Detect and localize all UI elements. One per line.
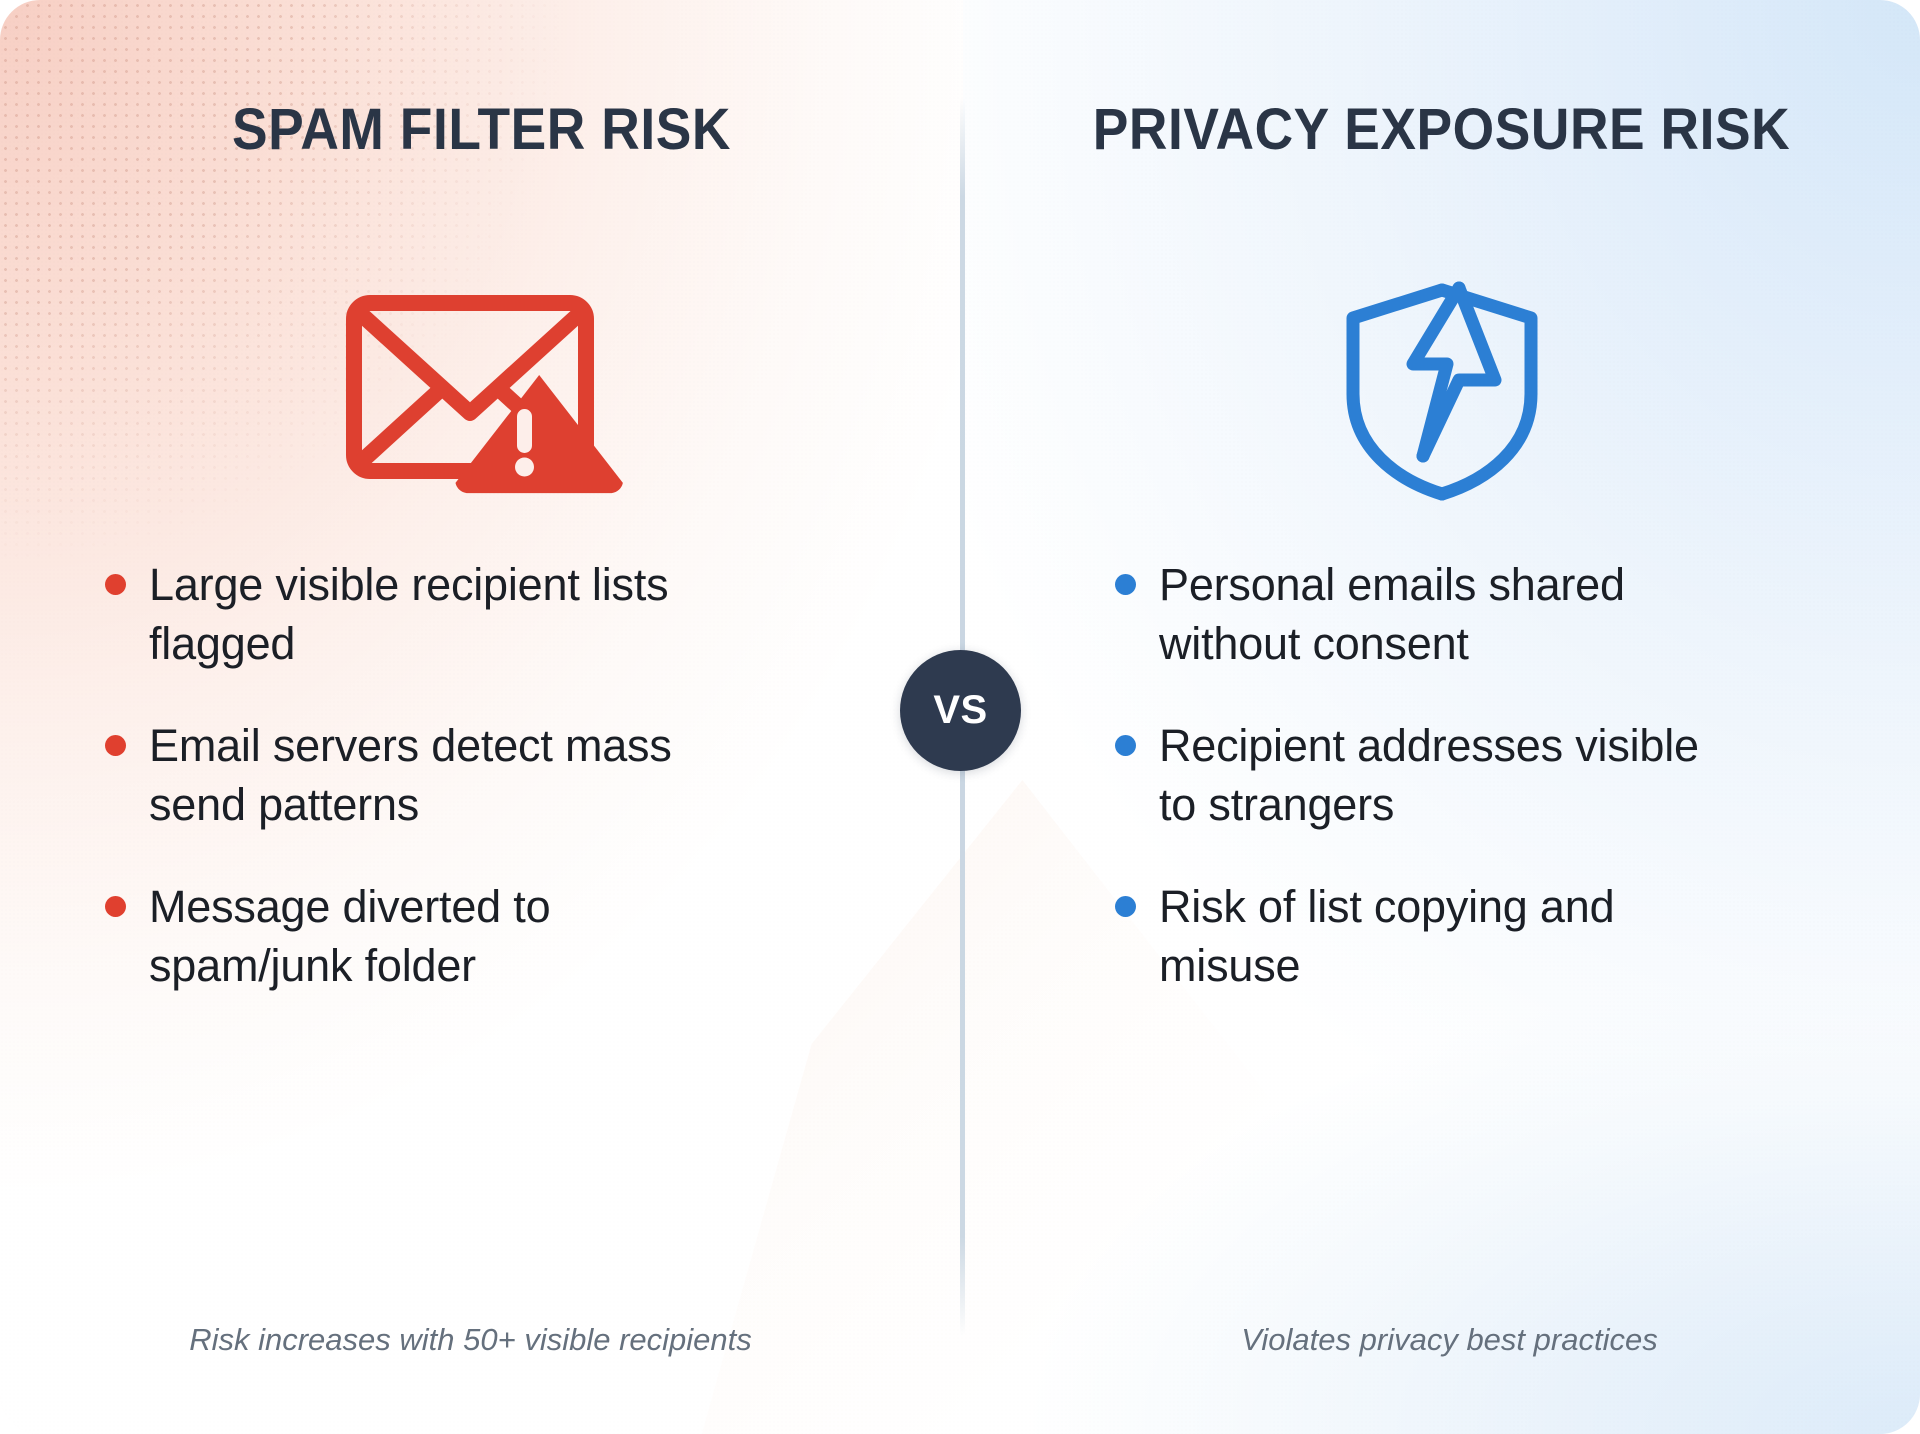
bullet-dot-icon — [105, 896, 126, 917]
list-item: Message diverted to spam/junk folder — [105, 878, 745, 995]
privacy-exposure-risk-panel: PRIVACY EXPOSURE RISK Personal emails sh… — [963, 0, 1920, 1434]
spam-filter-risk-panel: SPAM FILTER RISK Large visible recipi — [0, 0, 963, 1434]
broken-shield-icon — [1327, 276, 1557, 506]
bullet-label: Email servers detect mass send patterns — [149, 717, 745, 834]
list-item: Recipient addresses visible to strangers — [1115, 717, 1735, 834]
right-footnote: Violates privacy best practices — [963, 1322, 1920, 1358]
bullet-dot-icon — [1115, 896, 1136, 917]
list-item: Email servers detect mass send patterns — [105, 717, 745, 834]
right-icon-container — [963, 276, 1920, 506]
left-bullet-list: Large visible recipient lists flagged Em… — [105, 556, 745, 1039]
left-footnote: Risk increases with 50+ visible recipien… — [0, 1322, 963, 1358]
right-panel-title: PRIVACY EXPOSURE RISK — [1001, 96, 1881, 163]
bullet-dot-icon — [1115, 735, 1136, 756]
bullet-label: Recipient addresses visible to strangers — [1159, 717, 1735, 834]
envelope-warning-icon — [337, 281, 627, 501]
bullet-dot-icon — [1115, 574, 1136, 595]
list-item: Risk of list copying and misuse — [1115, 878, 1735, 995]
list-item: Personal emails shared without consent — [1115, 556, 1735, 673]
bullet-dot-icon — [105, 574, 126, 595]
bullet-label: Risk of list copying and misuse — [1159, 878, 1735, 995]
list-item: Large visible recipient lists flagged — [105, 556, 745, 673]
vs-badge: VS — [900, 650, 1021, 771]
left-panel-title: SPAM FILTER RISK — [39, 96, 925, 163]
bullet-label: Message diverted to spam/junk folder — [149, 878, 745, 995]
bullet-dot-icon — [105, 735, 126, 756]
left-icon-container — [0, 276, 963, 506]
infographic-canvas: SPAM FILTER RISK Large visible recipi — [0, 0, 1920, 1434]
bullet-label: Large visible recipient lists flagged — [149, 556, 745, 673]
vs-badge-label: VS — [933, 688, 987, 733]
right-bullet-list: Personal emails shared without consent R… — [1115, 556, 1735, 1039]
bullet-label: Personal emails shared without consent — [1159, 556, 1735, 673]
